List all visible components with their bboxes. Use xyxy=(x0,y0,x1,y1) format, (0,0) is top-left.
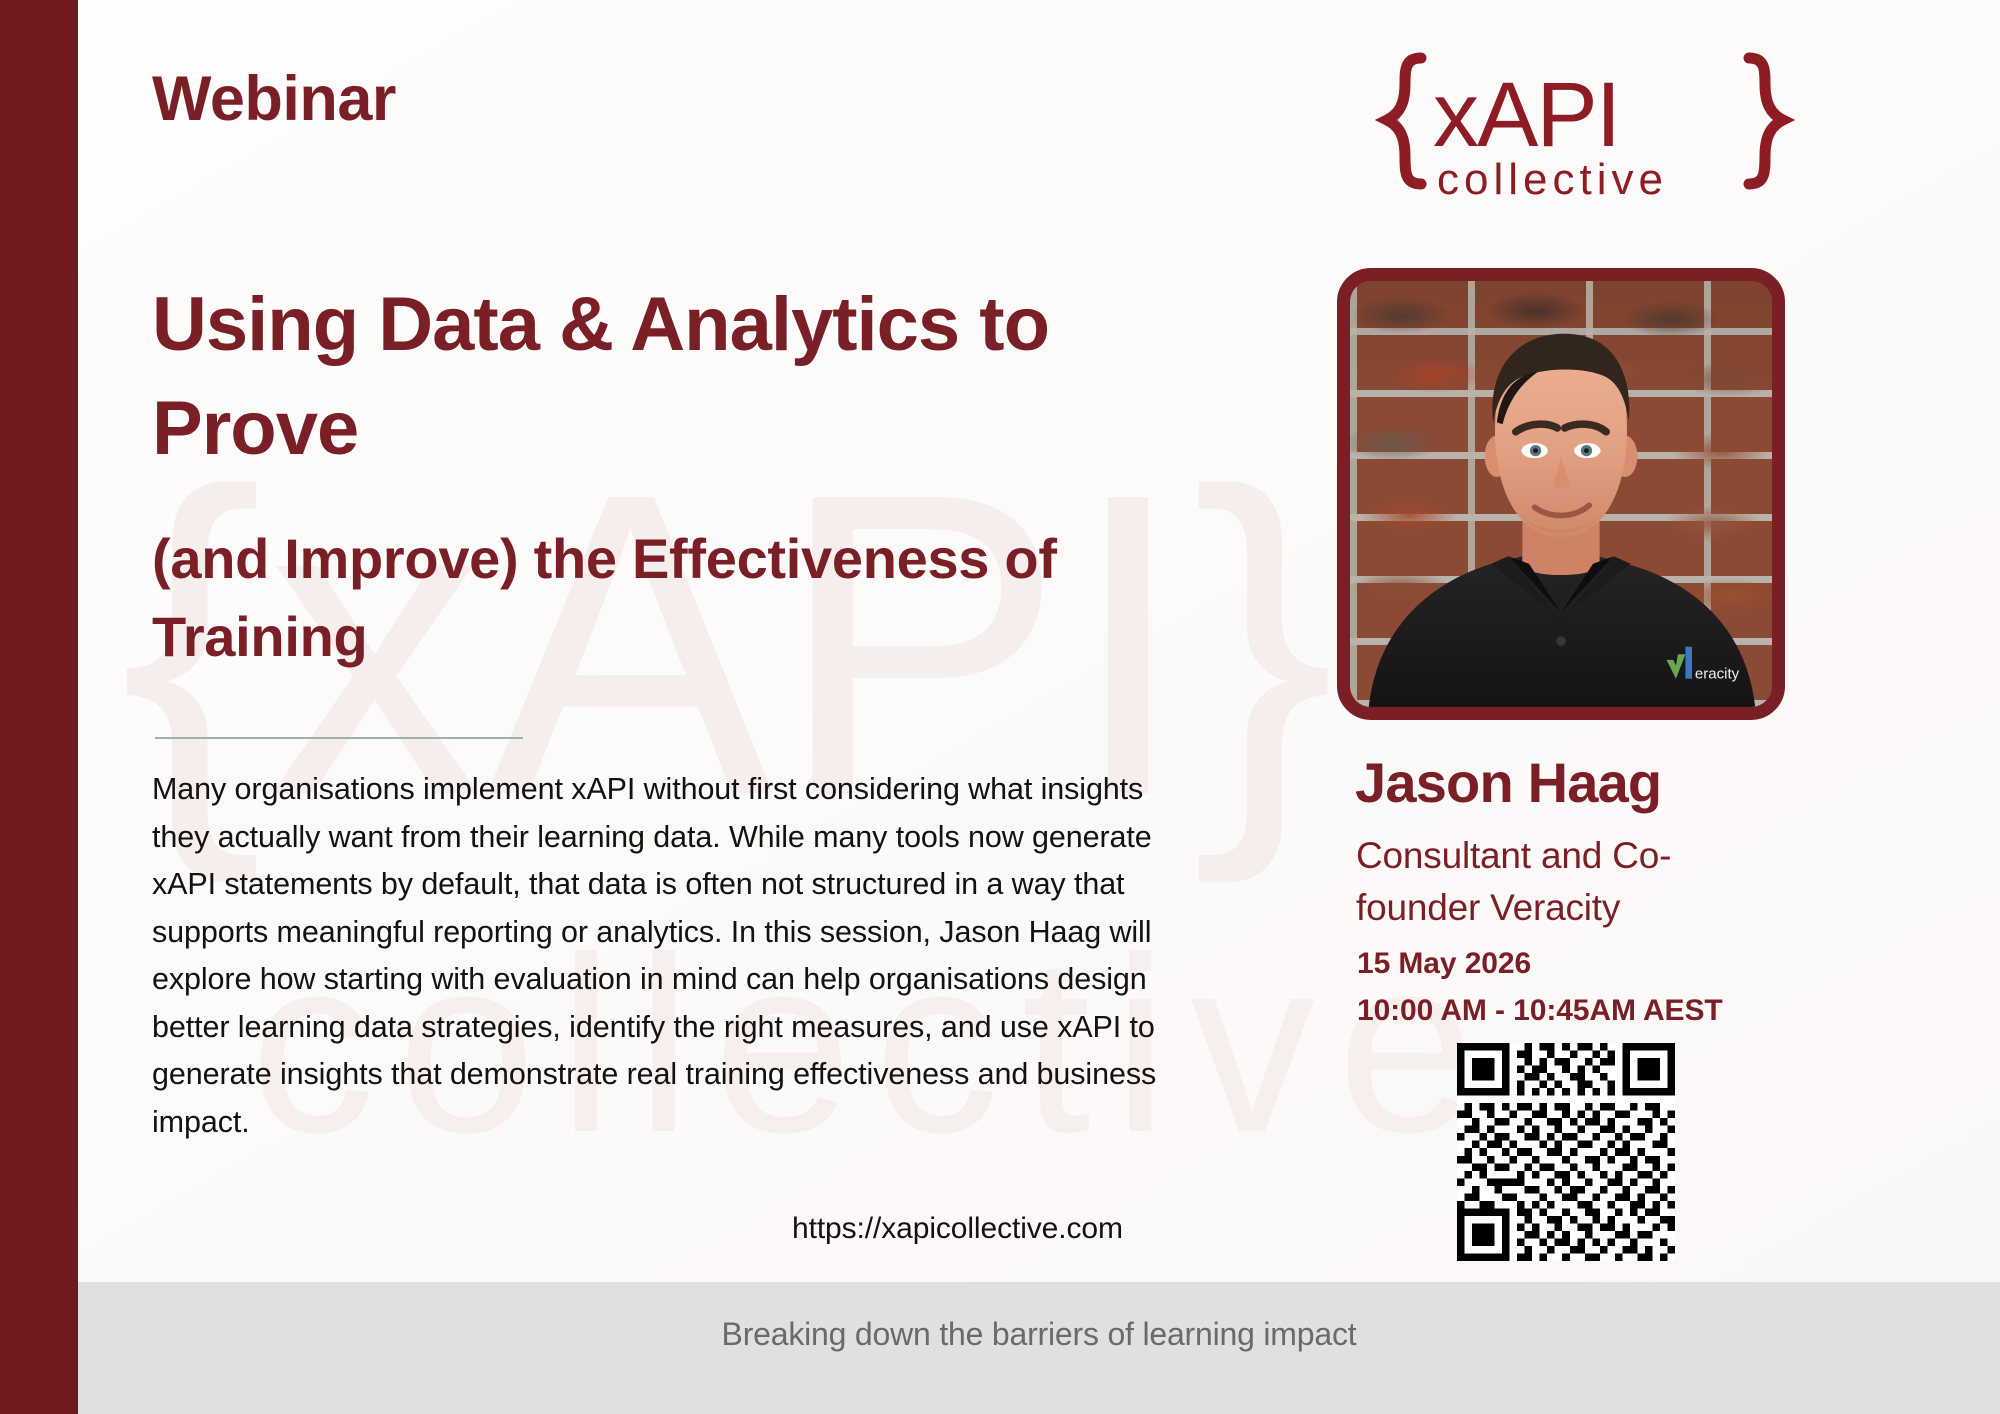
svg-text:xAPI: xAPI xyxy=(1433,64,1619,166)
speaker-role: Consultant and Co-founder Veracity xyxy=(1356,830,1776,934)
webinar-poster: {xAPI} collective Webinar Using Data & A… xyxy=(0,0,2000,1414)
page-title: Using Data & Analytics to Prove xyxy=(152,273,1162,481)
session-description: Many organisations implement xAPI withou… xyxy=(152,766,1182,1146)
svg-text:eracity: eracity xyxy=(1695,666,1740,683)
speaker-name: Jason Haag xyxy=(1355,750,1661,815)
xapi-collective-logo: xAPI collective xyxy=(1375,48,1795,208)
footer-bar: Breaking down the barriers of learning i… xyxy=(78,1282,2000,1414)
svg-text:collective: collective xyxy=(1437,155,1668,204)
right-content-column: xAPI collective xyxy=(1330,0,2000,1414)
left-accent-bar xyxy=(0,0,78,1414)
speaker-photo: eracity xyxy=(1337,268,1785,720)
website-url[interactable]: https://xapicollective.com xyxy=(792,1212,1123,1246)
page-subtitle: (and Improve) the Effectiveness of Train… xyxy=(152,520,1112,676)
event-date: 15 May 2026 xyxy=(1357,947,1531,981)
left-content-column: Webinar Using Data & Analytics to Prove … xyxy=(152,0,1222,1414)
qr-code[interactable] xyxy=(1443,1043,1689,1261)
event-time: 10:00 AM - 10:45AM AEST xyxy=(1357,994,1723,1028)
kicker-label: Webinar xyxy=(152,62,396,136)
footer-tagline: Breaking down the barriers of learning i… xyxy=(722,1316,1357,1353)
title-divider xyxy=(155,737,523,739)
